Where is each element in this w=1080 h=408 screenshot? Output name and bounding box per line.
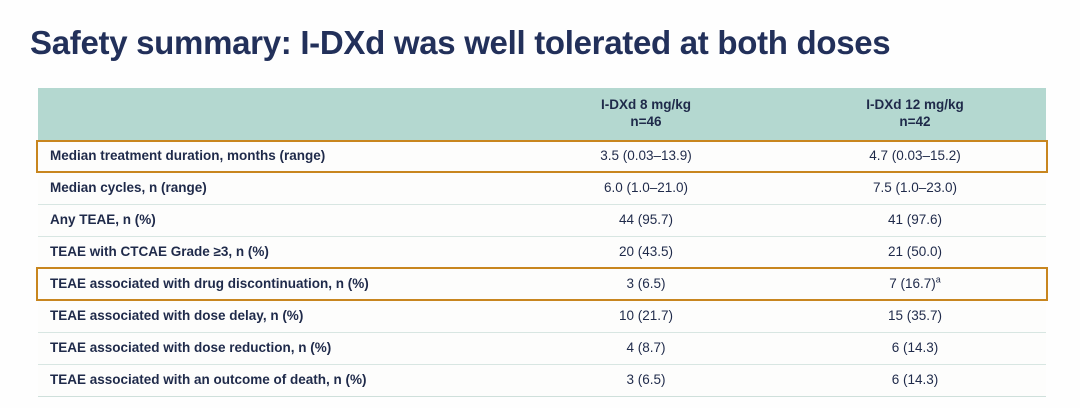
table-row: Any TEAE, n (%) 44 (95.7) 41 (97.6) [38, 204, 1046, 236]
row-label: Any TEAE, n (%) [38, 204, 508, 236]
row-label: TEAE associated with dose reduction, n (… [38, 332, 508, 364]
row-label: TEAE with CTCAE Grade ≥3, n (%) [38, 236, 508, 268]
row-value-dose-12: 7 (16.7)a [784, 268, 1046, 300]
safety-summary-table-container: I-DXd 8 mg/kg n=46 I-DXd 12 mg/kg n=42 M… [38, 88, 1046, 397]
row-value-dose-8: 6.0 (1.0–21.0) [508, 172, 784, 204]
row-value-dose-12: 6 (14.3) [784, 332, 1046, 364]
row-label: TEAE associated with an outcome of death… [38, 364, 508, 396]
table-header-row: I-DXd 8 mg/kg n=46 I-DXd 12 mg/kg n=42 [38, 88, 1046, 141]
table-row: TEAE associated with drug discontinuatio… [38, 268, 1046, 300]
table-row: Median cycles, n (range) 6.0 (1.0–21.0) … [38, 172, 1046, 204]
row-value-dose-8: 3.5 (0.03–13.9) [508, 141, 784, 173]
column-header-dose-12-n: n=42 [899, 114, 930, 129]
column-header-label [38, 88, 508, 141]
table-row: TEAE associated with dose delay, n (%) 1… [38, 300, 1046, 332]
slide-root: Safety summary: I-DXd was well tolerated… [0, 0, 1080, 408]
row-value-dose-8: 3 (6.5) [508, 364, 784, 396]
table-row: Median treatment duration, months (range… [38, 141, 1046, 173]
row-value-dose-12-text: 6 (14.3) [892, 340, 939, 355]
footnote-marker: a [936, 275, 941, 285]
table-body: Median treatment duration, months (range… [38, 141, 1046, 397]
row-value-dose-12: 41 (97.6) [784, 204, 1046, 236]
row-value-dose-8: 4 (8.7) [508, 332, 784, 364]
row-value-dose-12-text: 21 (50.0) [888, 244, 942, 259]
row-value-dose-12: 4.7 (0.03–15.2) [784, 141, 1046, 173]
row-label: TEAE associated with dose delay, n (%) [38, 300, 508, 332]
row-value-dose-12-text: 15 (35.7) [888, 308, 942, 323]
row-value-dose-12-text: 7.5 (1.0–23.0) [873, 180, 957, 195]
row-label: Median cycles, n (range) [38, 172, 508, 204]
column-header-dose-8: I-DXd 8 mg/kg n=46 [508, 88, 784, 141]
row-value-dose-12-text: 7 (16.7) [889, 276, 936, 291]
page-title: Safety summary: I-DXd was well tolerated… [30, 24, 890, 62]
table-row: TEAE associated with an outcome of death… [38, 364, 1046, 396]
row-value-dose-12-text: 41 (97.6) [888, 212, 942, 227]
table-row: TEAE associated with dose reduction, n (… [38, 332, 1046, 364]
row-label: Median treatment duration, months (range… [38, 141, 508, 173]
column-header-dose-12: I-DXd 12 mg/kg n=42 [784, 88, 1046, 141]
row-value-dose-12: 15 (35.7) [784, 300, 1046, 332]
column-header-dose-8-title: I-DXd 8 mg/kg [601, 97, 691, 112]
row-value-dose-12: 21 (50.0) [784, 236, 1046, 268]
safety-summary-table: I-DXd 8 mg/kg n=46 I-DXd 12 mg/kg n=42 M… [38, 88, 1046, 397]
row-value-dose-8: 3 (6.5) [508, 268, 784, 300]
row-value-dose-8: 10 (21.7) [508, 300, 784, 332]
table-header: I-DXd 8 mg/kg n=46 I-DXd 12 mg/kg n=42 [38, 88, 1046, 141]
row-value-dose-8: 44 (95.7) [508, 204, 784, 236]
row-value-dose-12-text: 6 (14.3) [892, 372, 939, 387]
row-value-dose-12-text: 4.7 (0.03–15.2) [869, 148, 961, 163]
column-header-dose-12-title: I-DXd 12 mg/kg [866, 97, 964, 112]
column-header-dose-8-n: n=46 [630, 114, 661, 129]
table-row: TEAE with CTCAE Grade ≥3, n (%) 20 (43.5… [38, 236, 1046, 268]
row-value-dose-8: 20 (43.5) [508, 236, 784, 268]
row-value-dose-12: 7.5 (1.0–23.0) [784, 172, 1046, 204]
row-value-dose-12: 6 (14.3) [784, 364, 1046, 396]
row-label: TEAE associated with drug discontinuatio… [38, 268, 508, 300]
